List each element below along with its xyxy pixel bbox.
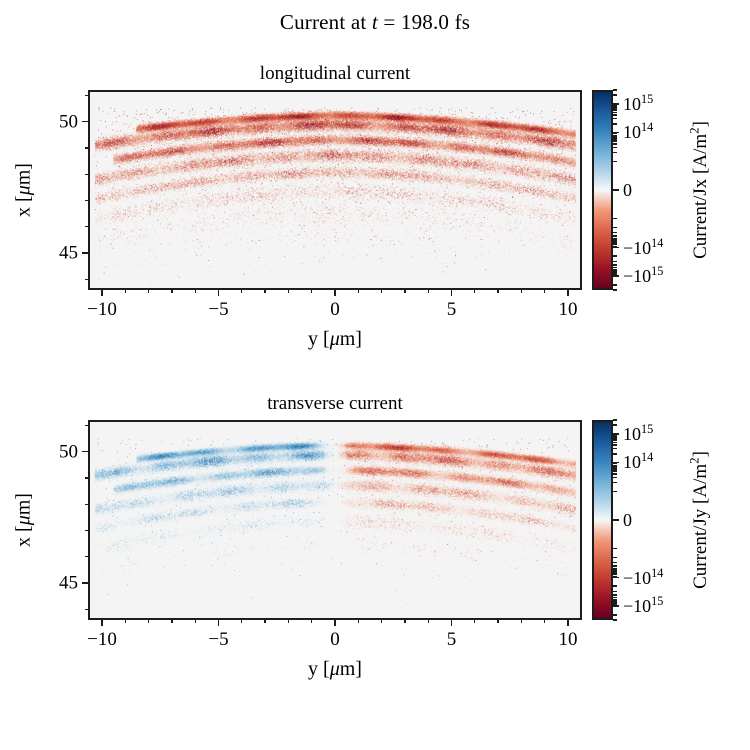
x-tick-label: 0 bbox=[330, 300, 340, 319]
colorbar-minor-tick bbox=[613, 238, 617, 239]
panel-longitudinal-current: longitudinal current bbox=[88, 90, 582, 290]
colorbar-minor-tick bbox=[613, 143, 617, 144]
x-minor-tick bbox=[358, 290, 359, 293]
panel-title-transverse: transverse current bbox=[88, 393, 582, 415]
colorbar-major-tick bbox=[613, 275, 619, 277]
x-minor-tick bbox=[195, 290, 196, 293]
x-minor-tick bbox=[241, 290, 242, 293]
colorbar-minor-tick bbox=[613, 135, 617, 136]
figure-suptitle: Current at t = 198.0 fs bbox=[0, 9, 750, 35]
panel-transverse-current: transverse current bbox=[88, 420, 582, 620]
colorbar-minor-tick bbox=[613, 444, 617, 445]
colorbar-minor-tick bbox=[613, 439, 617, 440]
colorbar-minor-tick bbox=[613, 261, 617, 262]
figure-canvas: Current at t = 198.0 fs longitudinal cur… bbox=[0, 0, 750, 750]
colorbar-minor-tick bbox=[613, 267, 617, 268]
colorbar-minor-tick bbox=[613, 107, 617, 108]
colorbar-minor-tick bbox=[613, 597, 617, 598]
scatter-plot-longitudinal bbox=[90, 92, 580, 288]
colorbar-minor-tick bbox=[613, 473, 617, 474]
colorbar-tick-label: −1015 bbox=[623, 267, 663, 285]
x-major-tick bbox=[567, 290, 569, 296]
colorbar-minor-tick bbox=[613, 614, 617, 615]
colorbar-minor-tick bbox=[613, 548, 617, 549]
colorbar-minor-tick bbox=[613, 453, 617, 454]
y-tick-label: 45 bbox=[52, 244, 78, 263]
suptitle-prefix: Current at bbox=[280, 10, 372, 34]
x-minor-tick bbox=[288, 290, 289, 293]
colorbar-transverse bbox=[592, 420, 613, 620]
colorbar-minor-tick bbox=[613, 436, 617, 437]
colorbar-major-tick bbox=[613, 433, 619, 435]
x-minor-tick bbox=[544, 620, 545, 623]
colorbar-tick-label: 0 bbox=[623, 511, 632, 529]
colorbar-minor-tick bbox=[613, 557, 617, 558]
colorbar-minor-tick bbox=[613, 468, 617, 469]
colorbar-major-tick bbox=[613, 462, 619, 464]
x-minor-tick bbox=[358, 620, 359, 623]
x-major-tick bbox=[334, 620, 336, 626]
x-major-tick bbox=[567, 620, 569, 626]
colorbar-major-tick bbox=[613, 519, 619, 521]
colorbar-minor-tick bbox=[613, 284, 617, 285]
x-minor-tick bbox=[148, 620, 149, 623]
x-major-tick bbox=[218, 620, 220, 626]
axes-frame-longitudinal bbox=[88, 90, 582, 290]
colorbar-minor-tick bbox=[613, 591, 617, 592]
colorbar-minor-tick bbox=[613, 424, 617, 425]
colorbar-minor-tick bbox=[613, 482, 617, 483]
colorbar-minor-tick bbox=[613, 147, 617, 148]
colorbar-minor-tick bbox=[613, 235, 617, 236]
y-minor-tick bbox=[85, 425, 88, 426]
y-minor-tick bbox=[85, 95, 88, 96]
y-minor-tick bbox=[85, 609, 88, 610]
suptitle-rest: = 198.0 fs bbox=[378, 10, 470, 34]
y-minor-tick bbox=[85, 477, 88, 478]
colorbar-tick-label: −1014 bbox=[623, 569, 663, 587]
colorbar-minor-tick bbox=[613, 594, 617, 595]
scatter-plot-transverse bbox=[90, 422, 580, 618]
colorbar-minor-tick bbox=[613, 289, 617, 290]
colorbar-minor-tick bbox=[613, 463, 617, 464]
colorbar-longitudinal bbox=[592, 90, 613, 290]
x-tick-label: 0 bbox=[330, 630, 340, 649]
x-minor-tick bbox=[544, 290, 545, 293]
y-minor-tick bbox=[85, 226, 88, 227]
y-major-tick bbox=[82, 582, 88, 584]
x-minor-tick bbox=[171, 290, 172, 293]
x-major-tick bbox=[101, 290, 103, 296]
panel-title-longitudinal: longitudinal current bbox=[88, 63, 582, 85]
x-axis-label: y [μm] bbox=[88, 328, 582, 351]
colorbar-minor-tick bbox=[613, 434, 617, 435]
colorbar-minor-tick bbox=[613, 619, 617, 620]
x-tick-label: −10 bbox=[87, 300, 117, 319]
colorbar-minor-tick bbox=[613, 442, 617, 443]
colorbar-minor-tick bbox=[613, 568, 617, 569]
x-minor-tick bbox=[148, 290, 149, 293]
x-minor-tick bbox=[428, 290, 429, 293]
colorbar-tick-label: −1015 bbox=[623, 597, 663, 615]
colorbar-tick-label: −1014 bbox=[623, 239, 663, 257]
x-minor-tick bbox=[311, 290, 312, 293]
colorbar-major-tick bbox=[613, 605, 619, 607]
x-tick-label: 5 bbox=[447, 630, 457, 649]
colorbar-minor-tick bbox=[613, 562, 617, 563]
x-minor-tick bbox=[497, 620, 498, 623]
colorbar-minor-tick bbox=[613, 94, 617, 95]
colorbar-axis-label: Current/Jy [A/m2] bbox=[690, 451, 712, 589]
x-minor-tick bbox=[288, 620, 289, 623]
y-minor-tick bbox=[85, 147, 88, 148]
y-major-tick bbox=[82, 451, 88, 453]
y-major-tick bbox=[82, 252, 88, 254]
x-tick-label: −5 bbox=[208, 300, 228, 319]
y-major-tick bbox=[82, 121, 88, 123]
colorbar-minor-tick bbox=[613, 118, 617, 119]
y-tick-label: 45 bbox=[52, 574, 78, 593]
x-minor-tick bbox=[404, 290, 405, 293]
colorbar-minor-tick bbox=[613, 491, 617, 492]
x-minor-tick bbox=[195, 620, 196, 623]
colorbar-minor-tick bbox=[613, 114, 617, 115]
colorbar-tick-label: 1015 bbox=[623, 425, 653, 443]
y-axis-label: x [μm] bbox=[13, 493, 36, 547]
x-tick-label: 10 bbox=[559, 300, 578, 319]
x-minor-tick bbox=[474, 620, 475, 623]
colorbar-gradient-jy bbox=[594, 422, 611, 618]
colorbar-minor-tick bbox=[613, 104, 617, 105]
y-minor-tick bbox=[85, 200, 88, 201]
x-minor-tick bbox=[428, 620, 429, 623]
colorbar-minor-tick bbox=[613, 585, 617, 586]
colorbar-minor-tick bbox=[613, 123, 617, 124]
x-major-tick bbox=[101, 620, 103, 626]
colorbar-minor-tick bbox=[613, 140, 617, 141]
colorbar-minor-tick bbox=[613, 152, 617, 153]
y-tick-label: 50 bbox=[52, 442, 78, 461]
colorbar-minor-tick bbox=[613, 133, 617, 134]
colorbar-minor-tick bbox=[613, 448, 617, 449]
colorbar-minor-tick bbox=[613, 264, 617, 265]
colorbar-minor-tick bbox=[613, 565, 617, 566]
colorbar-major-tick bbox=[613, 247, 619, 249]
colorbar-tick-label: 1015 bbox=[623, 95, 653, 113]
colorbar-minor-tick bbox=[613, 227, 617, 228]
colorbar-minor-tick bbox=[613, 109, 617, 110]
x-minor-tick bbox=[125, 620, 126, 623]
colorbar-tick-label: 1014 bbox=[623, 453, 653, 471]
colorbar-tick-label: 0 bbox=[623, 181, 632, 199]
x-minor-tick bbox=[474, 290, 475, 293]
x-minor-tick bbox=[381, 620, 382, 623]
colorbar-major-tick bbox=[613, 577, 619, 579]
x-major-tick bbox=[334, 290, 336, 296]
x-tick-label: 5 bbox=[447, 300, 457, 319]
x-minor-tick bbox=[497, 290, 498, 293]
y-minor-tick bbox=[85, 504, 88, 505]
y-minor-tick bbox=[85, 556, 88, 557]
colorbar-minor-tick bbox=[613, 477, 617, 478]
x-major-tick bbox=[451, 290, 453, 296]
x-major-tick bbox=[451, 620, 453, 626]
y-minor-tick bbox=[85, 174, 88, 175]
colorbar-minor-tick bbox=[613, 470, 617, 471]
x-minor-tick bbox=[125, 290, 126, 293]
x-minor-tick bbox=[171, 620, 172, 623]
colorbar-major-tick bbox=[613, 103, 619, 105]
x-minor-tick bbox=[241, 620, 242, 623]
x-minor-tick bbox=[381, 290, 382, 293]
x-tick-label: −5 bbox=[208, 630, 228, 649]
x-minor-tick bbox=[264, 620, 265, 623]
colorbar-minor-tick bbox=[613, 437, 617, 438]
colorbar-gradient-jx bbox=[594, 92, 611, 288]
colorbar-minor-tick bbox=[613, 465, 617, 466]
x-minor-tick bbox=[404, 620, 405, 623]
x-tick-label: 10 bbox=[559, 630, 578, 649]
colorbar-minor-tick bbox=[613, 232, 617, 233]
colorbar-minor-tick bbox=[613, 112, 617, 113]
x-minor-tick bbox=[521, 290, 522, 293]
colorbar-minor-tick bbox=[613, 138, 617, 139]
x-minor-tick bbox=[311, 620, 312, 623]
colorbar-minor-tick bbox=[613, 136, 617, 137]
axes-frame-transverse bbox=[88, 420, 582, 620]
y-minor-tick bbox=[85, 530, 88, 531]
y-minor-tick bbox=[85, 279, 88, 280]
x-tick-label: −10 bbox=[87, 630, 117, 649]
colorbar-axis-label: Current/Jx [A/m2] bbox=[690, 121, 712, 259]
colorbar-major-tick bbox=[613, 189, 619, 191]
colorbar-major-tick bbox=[613, 132, 619, 134]
colorbar-minor-tick bbox=[613, 106, 617, 107]
x-minor-tick bbox=[264, 290, 265, 293]
colorbar-minor-tick bbox=[613, 218, 617, 219]
colorbar-minor-tick bbox=[613, 255, 617, 256]
colorbar-minor-tick bbox=[613, 466, 617, 467]
y-tick-label: 50 bbox=[52, 112, 78, 131]
colorbar-tick-label: 1014 bbox=[623, 123, 653, 141]
x-axis-label: y [μm] bbox=[88, 658, 582, 681]
colorbar-minor-tick bbox=[613, 419, 617, 420]
y-axis-label: x [μm] bbox=[13, 163, 36, 217]
x-minor-tick bbox=[521, 620, 522, 623]
colorbar-minor-tick bbox=[613, 161, 617, 162]
x-major-tick bbox=[218, 290, 220, 296]
colorbar-minor-tick bbox=[613, 89, 617, 90]
